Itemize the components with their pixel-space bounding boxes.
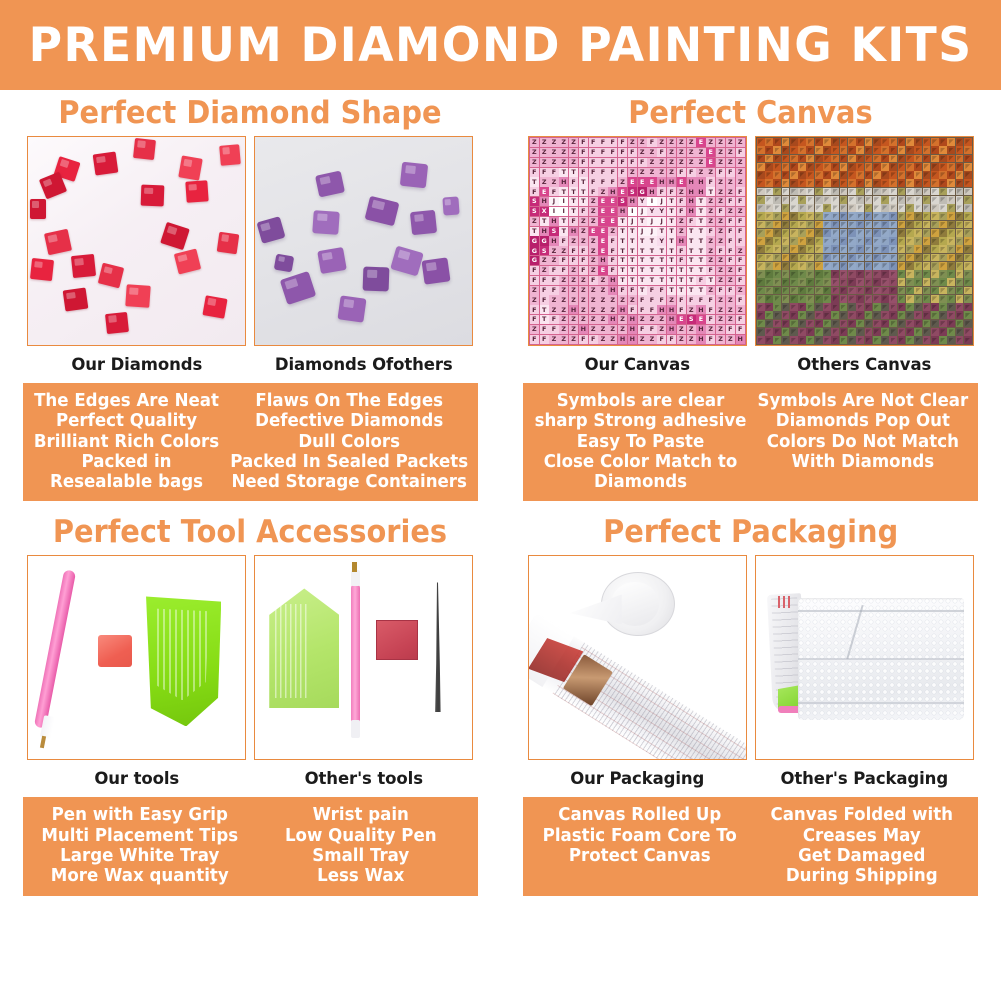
others-canvas-cell: [964, 311, 972, 319]
others-canvas-cell: [840, 212, 848, 220]
mailer-seam-top-icon: [798, 610, 964, 612]
others-canvas-cell: [840, 254, 848, 262]
canvas-symbol-cell: F: [589, 335, 598, 344]
textbox-line: Canvas Folded with: [756, 805, 966, 825]
canvas-symbol-cell: J: [638, 227, 647, 236]
others-canvas-cell: [947, 155, 955, 163]
pink-symbol-grid: ZZZZZFFFFFZZFZZZZEZZZZZZZZZFFFFFFZZFZZZZ…: [529, 137, 746, 345]
others-canvas-cell: [765, 212, 773, 220]
canvas-symbol-cell: T: [687, 236, 696, 245]
others-canvas-cell: [939, 262, 947, 270]
others-canvas-cell: [964, 237, 972, 245]
canvas-symbol-cell: T: [696, 227, 705, 236]
others-canvas-cell: [873, 245, 881, 253]
canvas-symbol-cell: E: [677, 177, 686, 186]
textbox-line: Symbols Are Not Clear: [758, 391, 969, 411]
canvas-symbol-cell: F: [726, 246, 735, 255]
red-diamond-icon: [141, 185, 165, 207]
canvas-symbol-cell: T: [579, 187, 588, 196]
canvas-red-marks-icon: [778, 596, 792, 608]
canvas-symbol-cell: T: [667, 236, 676, 245]
others-canvas-cell: [757, 303, 765, 311]
others-canvas-cell: [831, 221, 839, 229]
canvas-symbol-cell: T: [530, 227, 539, 236]
others-canvas-cell: [765, 171, 773, 179]
canvas-symbol-cell: Z: [579, 305, 588, 314]
canvas-symbol-cell: Z: [549, 305, 558, 314]
others-canvas-cell: [840, 336, 848, 344]
others-canvas-cell: [947, 295, 955, 303]
others-canvas-cell: [889, 229, 897, 237]
others-canvas-cell: [856, 212, 864, 220]
canvas-symbol-cell: Z: [598, 335, 607, 344]
others-canvas-cell: [815, 237, 823, 245]
others-canvas-cell: [873, 196, 881, 204]
canvas-symbol-cell: T: [667, 246, 676, 255]
others-canvas-cell: [964, 295, 972, 303]
canvas-symbol-cell: H: [628, 197, 637, 206]
purple-diamond-icon: [317, 247, 347, 274]
canvas-symbol-cell: Z: [657, 138, 666, 147]
others-canvas-cell: [815, 146, 823, 154]
others-canvas-cell: [806, 262, 814, 270]
purple-diamond-icon: [365, 196, 400, 227]
others-canvas-cell: [881, 237, 889, 245]
textbox-line: Resealable bags: [34, 472, 219, 492]
others-canvas-cell: [947, 311, 955, 319]
canvas-symbol-cell: F: [598, 138, 607, 147]
canvas-symbol-cell: T: [677, 266, 686, 275]
others-canvas-cell: [865, 229, 873, 237]
others-canvas-cell: [898, 270, 906, 278]
others-canvas-cell: [782, 212, 790, 220]
others-canvas-cell: [848, 287, 856, 295]
canvas-symbol-cell: T: [638, 246, 647, 255]
card-other-packaging: Other's Packaging: [755, 555, 974, 788]
canvas-symbol-cell: F: [589, 177, 598, 186]
canvas-symbol-cell: Z: [706, 286, 715, 295]
muddy-color-grid: [756, 137, 973, 345]
others-canvas-cell: [823, 262, 831, 270]
others-canvas-cell: [906, 328, 914, 336]
canvas-symbol-cell: Z: [540, 158, 549, 167]
canvas-symbol-cell: E: [696, 315, 705, 324]
others-canvas-cell: [889, 245, 897, 253]
canvas-symbol-cell: F: [736, 295, 745, 304]
others-canvas-cell: [815, 328, 823, 336]
others-canvas-cell: [956, 278, 964, 286]
canvas-symbol-cell: F: [589, 158, 598, 167]
others-canvas-cell: [856, 303, 864, 311]
others-canvas-cell: [923, 204, 931, 212]
others-canvas-cell: [823, 270, 831, 278]
canvas-symbol-cell: T: [667, 207, 676, 216]
canvas-symbol-cell: Z: [598, 315, 607, 324]
others-canvas-cell: [931, 270, 939, 278]
canvas-symbol-cell: Z: [677, 325, 686, 334]
canvas-symbol-cell: I: [647, 197, 656, 206]
textbox-line: Defective Diamonds: [230, 411, 468, 431]
textbox-line: Wrist pain: [256, 805, 466, 825]
others-canvas-cell: [790, 138, 798, 146]
canvas-symbol-cell: T: [559, 217, 568, 226]
others-canvas-cell: [947, 146, 955, 154]
others-canvas-cell: [889, 311, 897, 319]
canvas-symbol-cell: H: [569, 305, 578, 314]
others-canvas-cell: [939, 336, 947, 344]
bubble-mailer-icon: [798, 598, 964, 720]
canvas-symbol-cell: Z: [589, 207, 598, 216]
others-canvas-cell: [790, 311, 798, 319]
canvas-symbol-cell: T: [706, 187, 715, 196]
canvas-symbol-cell: T: [638, 286, 647, 295]
others-canvas-cell: [840, 155, 848, 163]
others-canvas-cell: [806, 245, 814, 253]
others-canvas-cell: [773, 320, 781, 328]
textbox-col-others: Flaws On The EdgesDefective DiamondsDull…: [230, 391, 468, 492]
others-canvas-cell: [765, 204, 773, 212]
canvas-symbol-cell: Z: [569, 286, 578, 295]
others-canvas-cell: [914, 212, 922, 220]
others-canvas-cell: [840, 278, 848, 286]
canvas-symbol-cell: Z: [589, 305, 598, 314]
others-canvas-cell: [865, 196, 873, 204]
canvas-symbol-cell: Z: [647, 148, 656, 157]
others-canvas-cell: [873, 221, 881, 229]
others-canvas-cell: [923, 287, 931, 295]
red-diamond-icon: [98, 263, 124, 289]
others-canvas-cell: [831, 237, 839, 245]
others-canvas-cell: [765, 155, 773, 163]
canvas-symbol-cell: Z: [540, 177, 549, 186]
others-canvas-cell: [947, 204, 955, 212]
canvas-symbol-cell: H: [657, 305, 666, 314]
others-canvas-cell: [798, 229, 806, 237]
canvas-symbol-cell: F: [540, 335, 549, 344]
others-canvas-cell: [806, 171, 814, 179]
others-canvas-cell: [806, 278, 814, 286]
canvas-symbol-cell: F: [736, 217, 745, 226]
pen-needle-icon: [40, 736, 46, 749]
others-canvas-cell: [773, 146, 781, 154]
others-canvas-cell: [873, 270, 881, 278]
canvas-symbol-cell: F: [687, 217, 696, 226]
canvas-symbol-cell: T: [687, 227, 696, 236]
others-canvas-cell: [889, 303, 897, 311]
canvas-symbol-cell: F: [569, 177, 578, 186]
others-canvas-cell: [840, 163, 848, 171]
others-canvas-cell: [782, 295, 790, 303]
others-canvas-cell: [856, 163, 864, 171]
canvas-symbol-cell: E: [647, 177, 656, 186]
others-canvas-cell: [923, 311, 931, 319]
others-canvas-cell: [773, 221, 781, 229]
canvas-symbol-cell: F: [657, 295, 666, 304]
textbox-line: Easy To Paste: [535, 432, 747, 452]
purple-diamond-icon: [390, 246, 424, 277]
canvas-symbol-cell: Z: [569, 325, 578, 334]
others-canvas-cell: [782, 163, 790, 171]
textbox-line: Packed In Sealed Packets: [230, 452, 468, 472]
others-canvas-cell: [947, 221, 955, 229]
others-canvas-cell: [873, 311, 881, 319]
others-canvas-cell: [848, 179, 856, 187]
canvas-symbol-cell: Z: [657, 168, 666, 177]
others-canvas-cell: [865, 311, 873, 319]
others-canvas-cell: [831, 171, 839, 179]
others-canvas-cell: [931, 245, 939, 253]
others-canvas-cell: [873, 155, 881, 163]
others-canvas-cell: [873, 229, 881, 237]
canvas-symbol-cell: E: [638, 177, 647, 186]
others-canvas-cell: [823, 295, 831, 303]
others-canvas-cell: [906, 204, 914, 212]
others-canvas-cell: [947, 336, 955, 344]
others-canvas-cell: [757, 270, 765, 278]
canvas-symbol-cell: F: [608, 138, 617, 147]
red-diamond-icon: [160, 222, 190, 250]
others-canvas-cell: [790, 328, 798, 336]
canvas-symbol-cell: E: [628, 177, 637, 186]
others-canvas-cell: [790, 303, 798, 311]
others-canvas-cell: [815, 229, 823, 237]
canvas-symbol-cell: F: [706, 266, 715, 275]
canvas-symbol-cell: F: [706, 315, 715, 324]
canvas-symbol-cell: E: [598, 236, 607, 245]
others-canvas-cell: [914, 295, 922, 303]
others-canvas-cell: [831, 254, 839, 262]
others-canvas-cell: [898, 237, 906, 245]
others-canvas-cell: [790, 278, 798, 286]
others-canvas-cell: [881, 221, 889, 229]
canvas-symbol-cell: F: [677, 256, 686, 265]
canvas-symbol-cell: F: [736, 276, 745, 285]
textbox-line: Plastic Foam Core To: [535, 826, 745, 846]
caption-other-tools: Other's tools: [254, 760, 473, 788]
canvas-symbol-cell: Z: [549, 295, 558, 304]
others-canvas-cell: [865, 287, 873, 295]
others-canvas-cell: [931, 138, 939, 146]
canvas-symbol-cell: Z: [530, 286, 539, 295]
caption-our-packaging: Our Packaging: [528, 760, 747, 788]
others-canvas-cell: [881, 270, 889, 278]
others-canvas-cell: [848, 320, 856, 328]
canvas-symbol-cell: F: [589, 187, 598, 196]
canvas-symbol-cell: F: [569, 217, 578, 226]
canvas-symbol-cell: H: [696, 325, 705, 334]
others-canvas-cell: [848, 262, 856, 270]
others-canvas-cell: [856, 245, 864, 253]
canvas-symbol-cell: F: [540, 286, 549, 295]
others-canvas-cell: [956, 155, 964, 163]
canvas-symbol-cell: T: [628, 227, 637, 236]
others-canvas-cell: [914, 278, 922, 286]
canvas-symbol-cell: F: [608, 236, 617, 245]
canvas-symbol-cell: T: [696, 266, 705, 275]
others-canvas-cell: [889, 278, 897, 286]
others-canvas-cell: [848, 303, 856, 311]
others-canvas-cell: [790, 254, 798, 262]
red-diamond-icon: [126, 284, 151, 308]
others-canvas-cell: [806, 155, 814, 163]
canvas-symbol-cell: H: [549, 217, 558, 226]
others-canvas-cell: [914, 287, 922, 295]
canvas-symbol-cell: T: [687, 246, 696, 255]
others-canvas-cell: [831, 320, 839, 328]
others-canvas-cell: [956, 270, 964, 278]
red-diamond-icon: [178, 155, 203, 180]
others-canvas-cell: [798, 278, 806, 286]
others-canvas-cell: [964, 287, 972, 295]
others-canvas-cell: [815, 204, 823, 212]
canvas-symbol-cell: Z: [657, 325, 666, 334]
others-canvas-cell: [923, 328, 931, 336]
canvas-symbol-cell: H: [657, 177, 666, 186]
canvas-symbol-cell: E: [598, 207, 607, 216]
red-diamond-icon: [63, 288, 89, 312]
canvas-symbol-cell: F: [726, 256, 735, 265]
canvas-symbol-cell: I: [559, 207, 568, 216]
others-canvas-cell: [856, 237, 864, 245]
others-canvas-cell: [865, 254, 873, 262]
textbox-line: Large White Tray: [34, 846, 244, 866]
canvas-symbol-cell: Z: [530, 148, 539, 157]
others-canvas-cell: [956, 196, 964, 204]
canvas-symbol-cell: Z: [716, 276, 725, 285]
canvas-symbol-cell: Z: [716, 217, 725, 226]
others-canvas-cell: [848, 245, 856, 253]
others-canvas-cell: [823, 138, 831, 146]
others-canvas-cell: [881, 278, 889, 286]
others-canvas-cell: [848, 188, 856, 196]
canvas-symbol-cell: E: [608, 207, 617, 216]
others-canvas-cell: [873, 320, 881, 328]
others-canvas-cell: [956, 311, 964, 319]
canvas-symbol-cell: F: [638, 295, 647, 304]
others-canvas-cell: [831, 212, 839, 220]
others-canvas-cell: [947, 188, 955, 196]
others-canvas-cell: [873, 262, 881, 270]
section-titles-row-2: Perfect Tool Accessories Perfect Packagi…: [0, 509, 1001, 555]
canvas-symbol-cell: T: [667, 217, 676, 226]
textbox-col-ours: Symbols are clearsharp Strong adhesiveEa…: [535, 391, 747, 492]
others-canvas-cell: [840, 245, 848, 253]
others-canvas-cell: [914, 320, 922, 328]
others-canvas-cell: [848, 221, 856, 229]
others-canvas-cell: [873, 171, 881, 179]
canvas-symbol-cell: H: [608, 286, 617, 295]
other-tools-scene: [255, 556, 472, 759]
canvas-symbol-cell: Z: [569, 295, 578, 304]
others-canvas-cell: [773, 163, 781, 171]
others-canvas-cell: [865, 163, 873, 171]
others-canvas-cell: [815, 155, 823, 163]
card-other-diamonds: Diamonds Ofothers: [254, 136, 473, 374]
pink-pen-icon: [34, 570, 76, 729]
others-canvas-cell: [964, 245, 972, 253]
others-canvas-cell: [931, 336, 939, 344]
canvas-symbol-cell: Z: [559, 325, 568, 334]
canvas-symbol-cell: Z: [736, 246, 745, 255]
others-canvas-cell: [765, 221, 773, 229]
canvas-symbol-cell: T: [540, 217, 549, 226]
canvas-symbol-cell: Z: [667, 148, 676, 157]
others-canvas-cell: [906, 179, 914, 187]
others-canvas-cell: [906, 212, 914, 220]
red-diamond-icon: [133, 138, 156, 160]
canvas-symbol-cell: Z: [628, 138, 637, 147]
textbox-line: Protect Canvas: [535, 846, 745, 866]
canvas-symbol-cell: T: [628, 266, 637, 275]
others-canvas-cell: [947, 270, 955, 278]
others-canvas-cell: [790, 237, 798, 245]
others-canvas-cell: [898, 295, 906, 303]
canvas-symbol-cell: Z: [618, 177, 627, 186]
others-canvas-cell: [782, 336, 790, 344]
others-canvas-cell: [964, 196, 972, 204]
canvas-symbol-cell: H: [667, 315, 676, 324]
canvas-symbol-cell: F: [726, 286, 735, 295]
canvas-symbol-cell: Z: [736, 286, 745, 295]
others-canvas-cell: [773, 303, 781, 311]
others-canvas-cell: [889, 138, 897, 146]
others-canvas-cell: [964, 179, 972, 187]
photo-other-diamonds: [254, 136, 473, 346]
canvas-symbol-cell: T: [647, 236, 656, 245]
others-canvas-cell: [923, 212, 931, 220]
canvas-symbol-cell: H: [667, 325, 676, 334]
canvas-symbol-cell: H: [559, 177, 568, 186]
others-canvas-cell: [815, 171, 823, 179]
canvas-symbol-cell: F: [726, 217, 735, 226]
canvas-symbol-cell: S: [549, 227, 558, 236]
card-our-tools: Our tools: [27, 555, 246, 788]
others-canvas-cell: [856, 278, 864, 286]
canvas-symbol-cell: Z: [706, 207, 715, 216]
others-canvas-cell: [790, 221, 798, 229]
textbox-col-others: Wrist painLow Quality PenSmall TrayLess …: [256, 805, 466, 886]
canvas-symbol-cell: Z: [677, 335, 686, 344]
others-canvas-cell: [898, 204, 906, 212]
canvas-symbol-cell: Z: [667, 138, 676, 147]
canvas-symbol-cell: Z: [716, 295, 725, 304]
others-canvas-cell: [898, 163, 906, 171]
others-canvas-cell: [923, 163, 931, 171]
textbox-line: Dull Colors: [230, 432, 468, 452]
others-canvas-cell: [923, 229, 931, 237]
others-canvas-cell: [782, 138, 790, 146]
others-canvas-cell: [881, 188, 889, 196]
canvas-symbol-cell: J: [647, 217, 656, 226]
others-canvas-cell: [873, 303, 881, 311]
canvas-symbol-cell: Z: [647, 168, 656, 177]
canvas-symbol-cell: T: [687, 276, 696, 285]
canvas-symbol-cell: Z: [687, 325, 696, 334]
others-canvas-cell: [790, 196, 798, 204]
others-canvas-cell: [873, 163, 881, 171]
canvas-symbol-cell: F: [549, 187, 558, 196]
others-canvas-cell: [898, 287, 906, 295]
others-canvas-cell: [865, 270, 873, 278]
others-canvas-cell: [798, 188, 806, 196]
canvas-symbol-cell: H: [608, 187, 617, 196]
others-canvas-cell: [856, 204, 864, 212]
others-canvas-cell: [898, 303, 906, 311]
canvas-symbol-cell: F: [706, 295, 715, 304]
canvas-symbol-cell: T: [618, 256, 627, 265]
others-canvas-cell: [906, 262, 914, 270]
pen-cap-icon: [351, 570, 360, 586]
